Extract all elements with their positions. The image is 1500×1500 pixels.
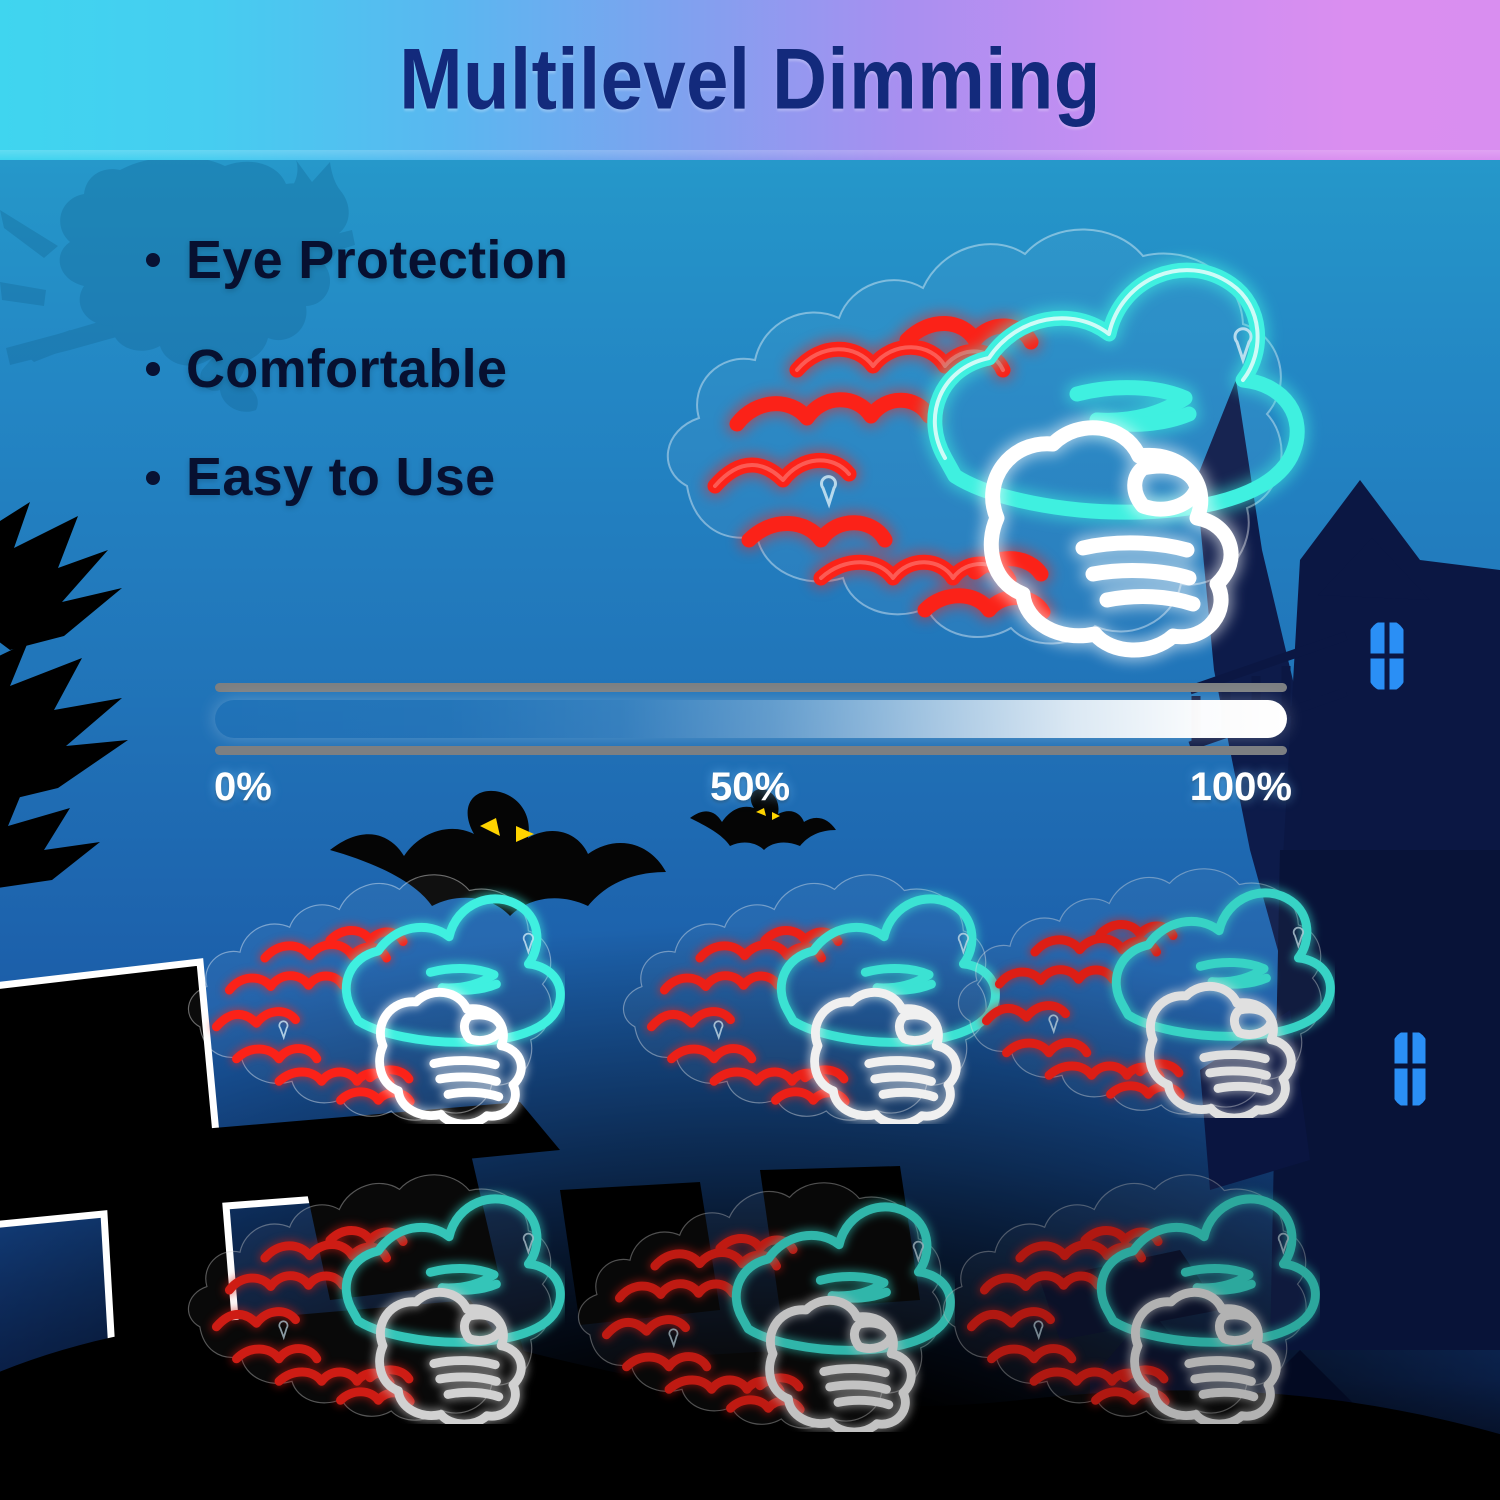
page-title: Multilevel Dimming <box>399 37 1101 124</box>
sign-level-2 <box>610 868 1000 1124</box>
sign-level-3 <box>945 862 1335 1118</box>
hero-sign <box>645 218 1305 650</box>
sign-level-1 <box>175 868 565 1124</box>
sign-level-4 <box>175 1168 565 1424</box>
slider-tick-100: 100% <box>1190 765 1292 810</box>
slider-tick-0: 0% <box>214 765 272 810</box>
header-banner: Multilevel Dimming <box>0 0 1500 160</box>
slider-scale: 0% 50% 100% <box>200 765 1300 815</box>
brightness-dimming-slider[interactable] <box>215 683 1287 755</box>
feature-label: Easy to Use <box>186 449 495 506</box>
feature-label: Eye Protection <box>186 232 568 289</box>
bullet-dot-icon <box>146 253 160 267</box>
sign-level-6 <box>930 1168 1320 1424</box>
slider-rail-top <box>215 683 1287 692</box>
slider-tick-50: 50% <box>710 765 790 810</box>
product-infographic: Multilevel Dimming Eye Protection Comfor… <box>0 0 1500 1500</box>
feature-label: Comfortable <box>186 341 507 398</box>
slider-fill[interactable] <box>215 700 1287 738</box>
bullet-dot-icon <box>146 362 160 376</box>
sign-level-5 <box>565 1176 955 1432</box>
bullet-dot-icon <box>146 471 160 485</box>
dead-tree-silhouette <box>0 502 128 892</box>
slider-rail-bottom <box>215 746 1287 755</box>
